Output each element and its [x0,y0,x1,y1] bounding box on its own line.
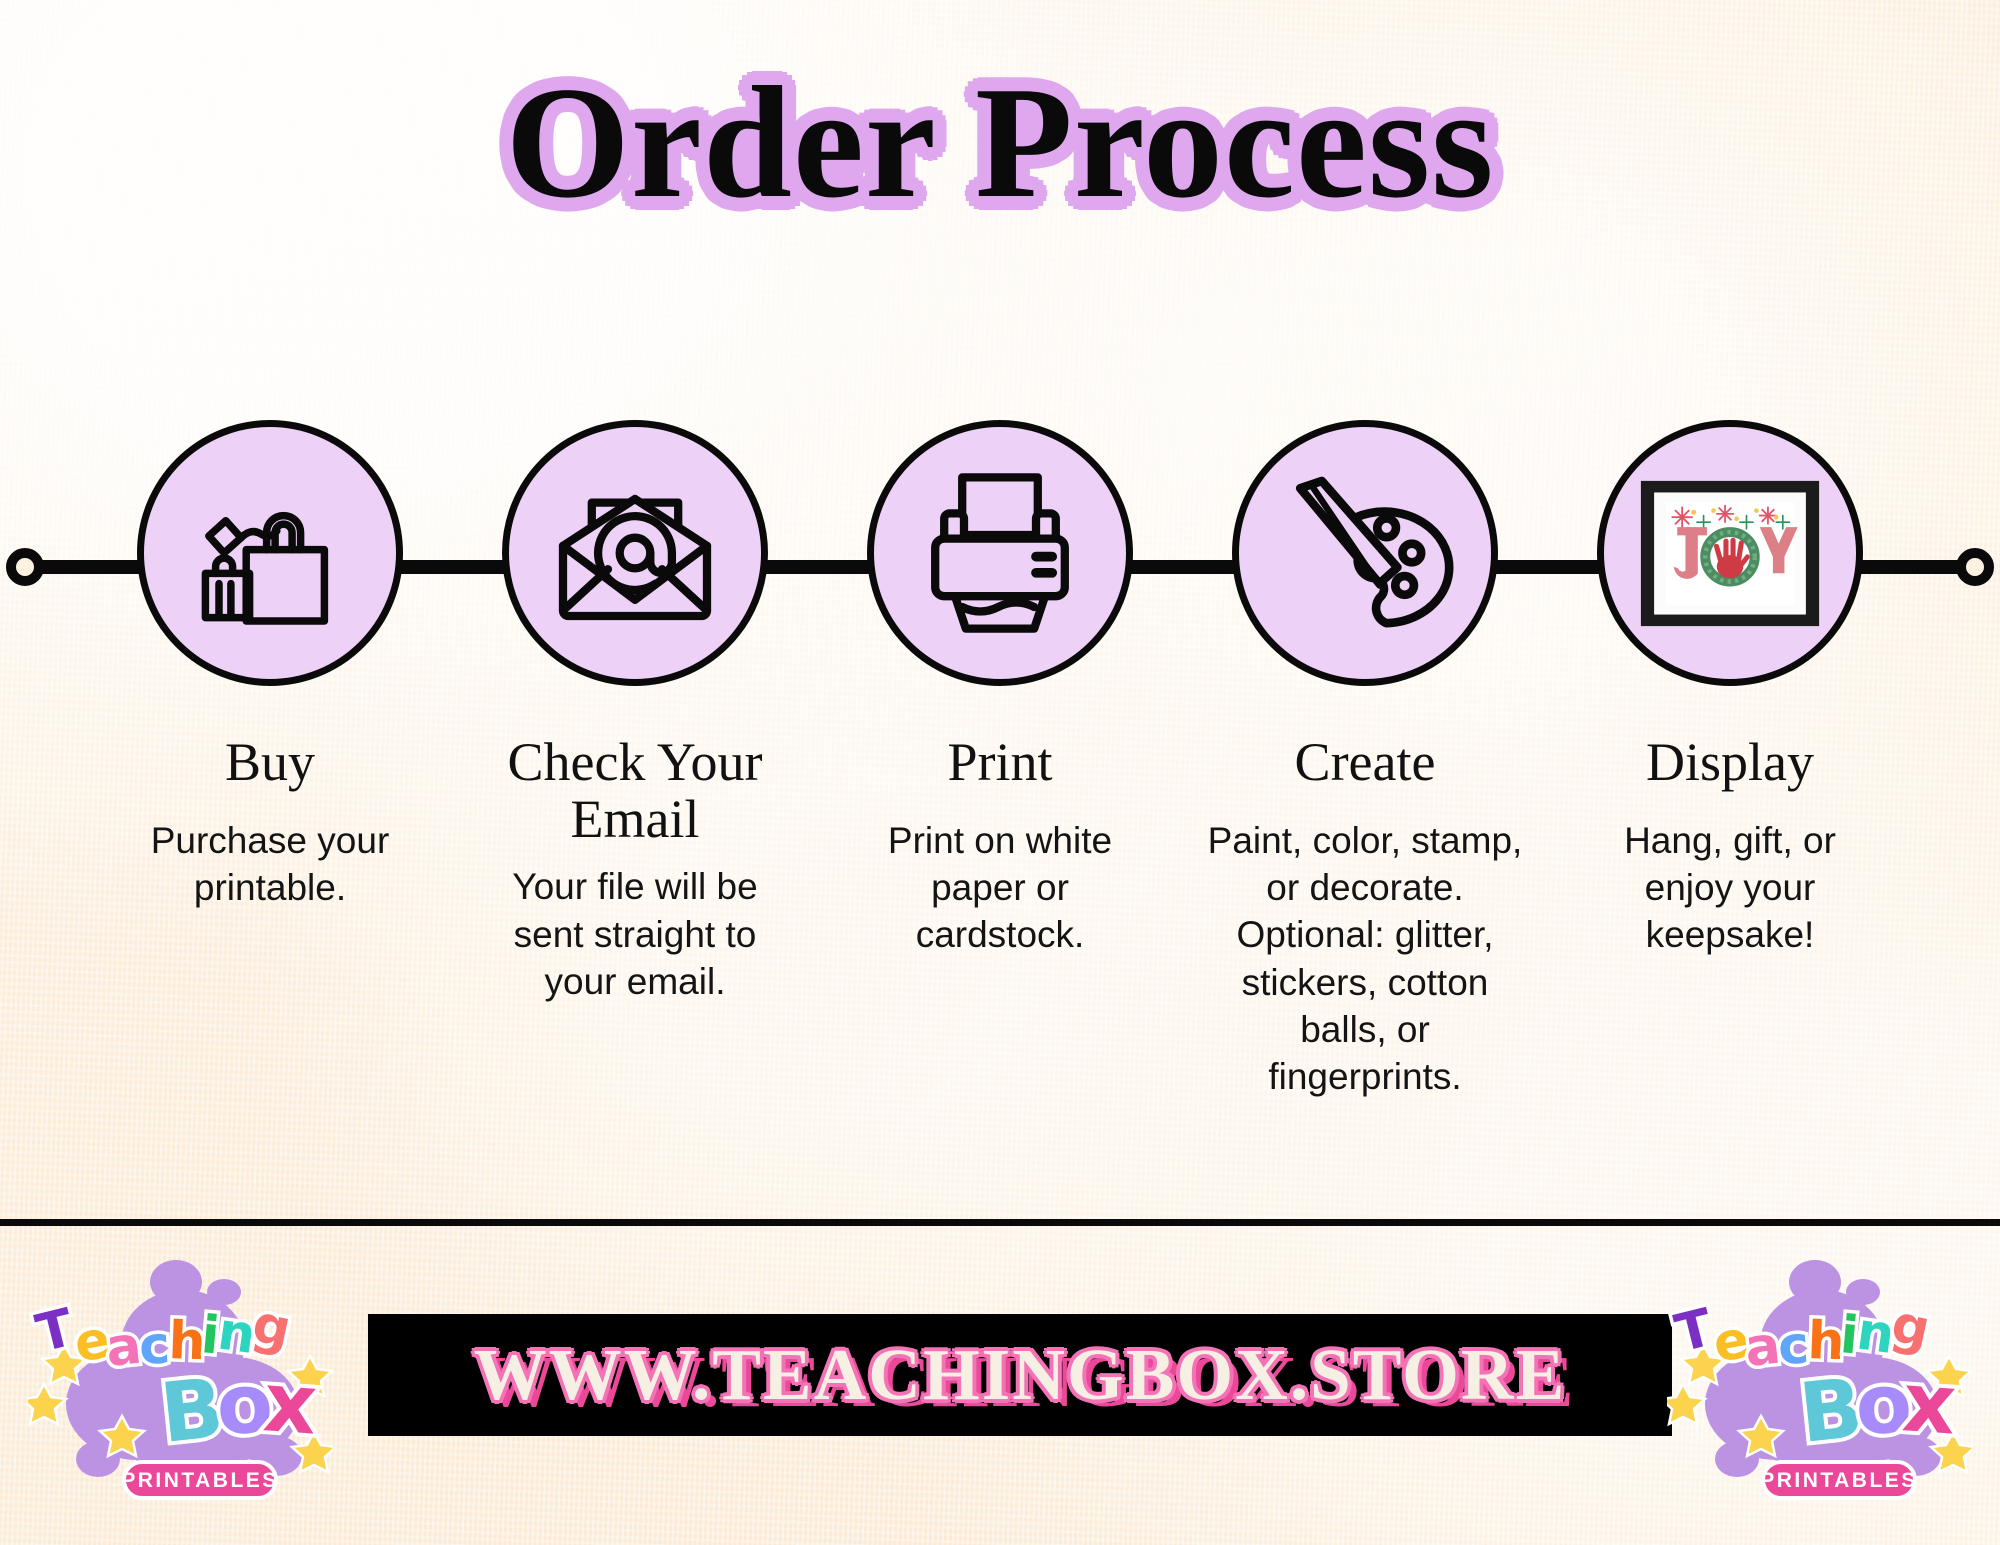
step-description-print: Print on white paper or cardstock. [845,817,1155,959]
logo-printables-badge: PRINTABLES [121,1462,279,1498]
website-url-text: WWW.TEACHINGBOX.STORE [474,1333,1567,1417]
svg-text:PRINTABLES: PRINTABLES [121,1469,279,1492]
process-step-display: Display Hang, gift, or enjoy your keepsa… [1570,420,1890,1101]
process-step-buy: Buy Purchase your printable. [110,420,430,1101]
shopping-bag-with-price-tag-icon [185,468,355,638]
step-description-display: Hang, gift, or enjoy your keepsake! [1575,817,1885,959]
svg-text:PRINTABLES: PRINTABLES [1760,1469,1918,1492]
process-step-print: Print Print on white paper or cardstock. [840,420,1160,1101]
logo-word-box: B o x [156,1355,320,1462]
page-title: Order Process [505,62,1494,222]
step-label-print: Print [947,734,1052,791]
printer-icon [910,463,1090,643]
step-description-buy: Purchase your printable. [115,817,425,912]
footer: T e a c h i n g B o x PRINTABLES WW [0,1226,2000,1545]
open-envelope-with-at-symbol-icon [545,463,725,643]
svg-text:x: x [261,1355,320,1453]
brand-logo-left: T e a c h i n g B o x PRINTABLES [28,1234,333,1514]
step-description-create: Paint, color, stamp, or decorate. Option… [1205,817,1525,1101]
step-label-buy: Buy [225,734,315,791]
framed-artwork-icon [1630,471,1830,636]
step-label-display: Display [1646,734,1814,791]
logo-printables-badge: PRINTABLES [1760,1462,1918,1498]
step-description-check-email: Your file will be sent straight to your … [480,863,790,1005]
process-step-create: Create Paint, color, stamp, or decorate.… [1205,420,1525,1101]
step-label-create: Create [1295,734,1436,791]
step-icon-circle-check-email [502,420,768,686]
logo-word-box: B o x [1795,1355,1959,1462]
svg-text:x: x [1900,1355,1959,1453]
website-url-banner[interactable]: WWW.TEACHINGBOX.STORE [368,1314,1672,1436]
footer-divider [0,1219,2000,1226]
step-icon-circle-buy [137,420,403,686]
svg-text:g: g [247,1294,296,1360]
process-step-check-email: Check Your Email Your file will be sent … [475,420,795,1101]
paint-palette-and-brush-icon [1275,463,1455,643]
process-steps-list: Buy Purchase your printable. [0,420,2000,1101]
teaching-box-printables-logo-icon: T e a c h i n g B o x PRINTABLES [1667,1234,1972,1514]
step-icon-circle-create [1232,420,1498,686]
svg-text:g: g [1886,1294,1935,1360]
step-label-check-email: Check Your Email [475,734,795,847]
title-container: Order Process [0,62,2000,222]
step-icon-circle-display [1597,420,1863,686]
teaching-box-printables-logo-icon: T e a c h i n g B o x PRINTABLES [28,1234,333,1514]
brand-logo-right: T e a c h i n g B o x PRINTABLES [1667,1234,1972,1514]
step-icon-circle-print [867,420,1133,686]
